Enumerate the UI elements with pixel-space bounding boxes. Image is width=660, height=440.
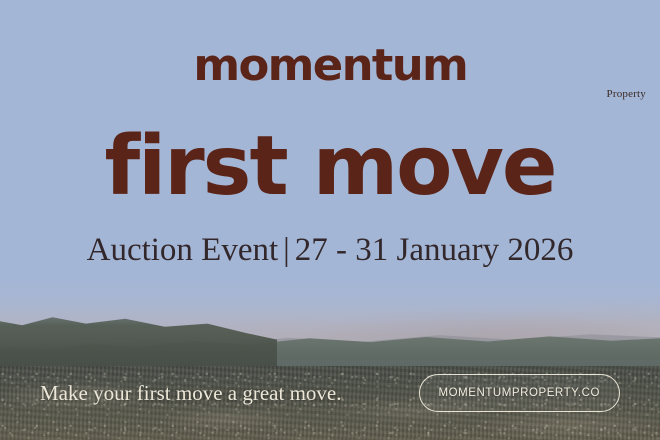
event-subtitle: Auction Event|27 - 31 January 2026 — [0, 232, 660, 268]
tagline: Make your first move a great move. — [40, 383, 342, 404]
website-cta-button[interactable]: MOMENTUMPROPERTY.CO — [419, 374, 620, 412]
event-dates: 27 - 31 January 2026 — [295, 232, 574, 268]
landscape-photo — [0, 270, 660, 440]
marketing-banner: momentum Property firstmove Auction Even… — [0, 0, 660, 440]
brand-logo: momentum Property — [0, 44, 660, 100]
subtitle-separator: | — [278, 232, 295, 268]
headline-word-one: first — [104, 119, 286, 214]
logo-wordmark: momentum — [193, 44, 467, 88]
photo-sky-blend — [0, 270, 660, 326]
headline-word-two: move — [313, 119, 556, 214]
page-title: firstmove — [0, 126, 660, 208]
footer-row: Make your first move a great move. MOMEN… — [0, 374, 660, 412]
event-label: Auction Event — [87, 232, 279, 268]
